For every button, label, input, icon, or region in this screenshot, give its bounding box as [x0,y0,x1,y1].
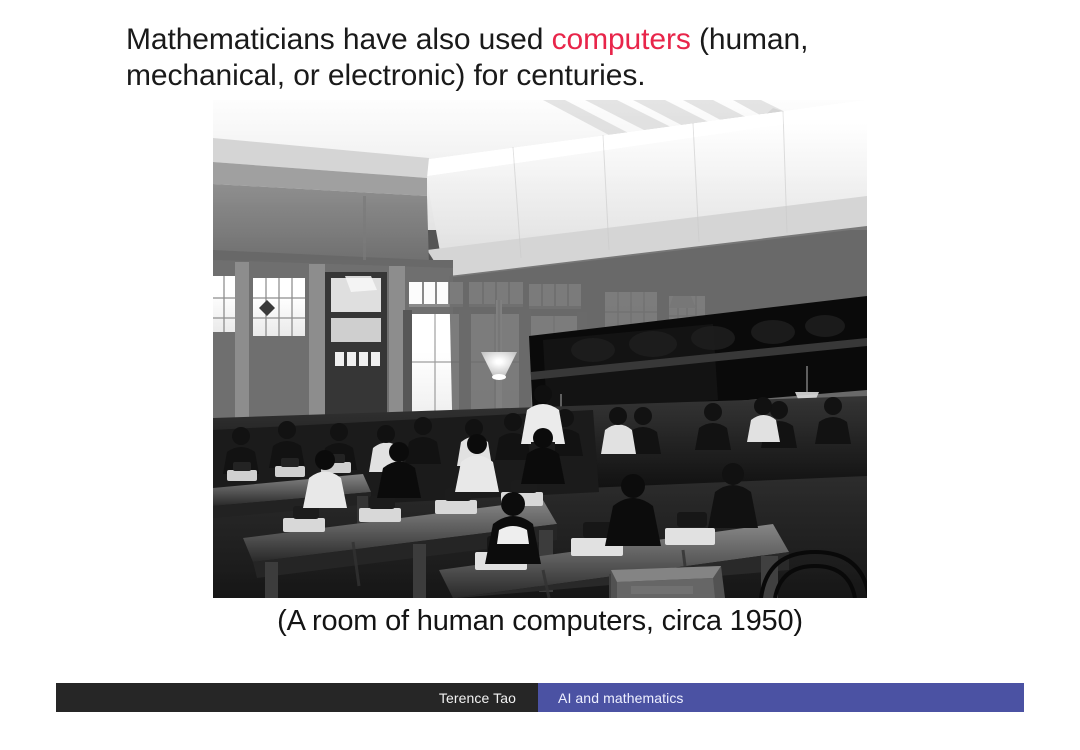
wooden-crate [611,566,725,598]
photo-figure [213,100,867,598]
title-segment-lead: Mathematicians have also used [126,23,552,56]
footer-author-segment: Terence Tao [56,683,538,712]
human-computers-photograph [213,100,867,598]
slide-title: Mathematicians have also used computers … [126,22,956,94]
slide-footer-bar: Terence Tao AI and mathematics [56,683,1024,712]
photograph-artwork [213,100,867,598]
footer-topic-label: AI and mathematics [558,690,684,706]
footer-author-label: Terence Tao [439,690,516,706]
footer-topic-segment: AI and mathematics [538,683,1024,712]
photo-caption: (A room of human computers, circa 1950) [0,604,1080,638]
presentation-slide: Mathematicians have also used computers … [0,0,1080,750]
title-keyword-computers: computers [552,23,691,56]
